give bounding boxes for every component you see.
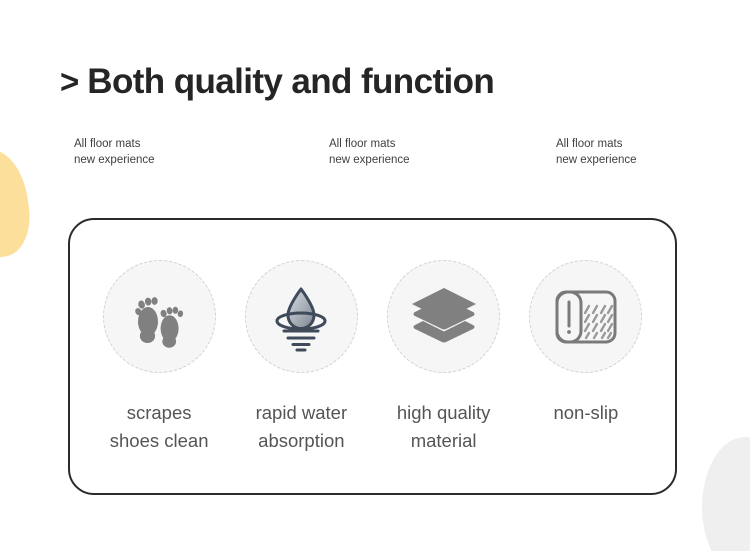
feature-label-line-1: scrapes: [110, 399, 209, 427]
feature-label-line-1: non-slip: [553, 399, 618, 427]
water-drop-ripple-icon: [265, 281, 337, 353]
feature-item-scrapes-shoes-clean[interactable]: scrapes shoes clean: [92, 260, 226, 455]
subtitle-line-2: new experience: [74, 152, 155, 168]
icon-circle: [529, 260, 642, 373]
page-root: > Both quality and function All floor ma…: [0, 0, 750, 551]
feature-list: scrapes shoes clean: [70, 220, 675, 493]
feature-label: high quality material: [397, 399, 491, 455]
feature-label: non-slip: [553, 399, 618, 427]
icon-circle: [245, 260, 358, 373]
subtitle-line-1: All floor mats: [556, 136, 637, 152]
subtitle-block-2: All floor mats new experience: [329, 136, 410, 168]
feature-item-rapid-water-absorption[interactable]: rapid water absorption: [234, 260, 368, 455]
feature-label-line-1: rapid water: [256, 399, 348, 427]
subtitle-block-3: All floor mats new experience: [556, 136, 637, 168]
footprints-icon: [124, 282, 194, 352]
decorative-yellow-blob: [0, 145, 35, 262]
feature-label-line-2: shoes clean: [110, 427, 209, 455]
page-title: > Both quality and function: [60, 64, 494, 99]
subtitle-line-1: All floor mats: [74, 136, 155, 152]
decorative-gray-blob: [702, 437, 750, 551]
feature-card: scrapes shoes clean: [68, 218, 677, 495]
feature-item-high-quality-material[interactable]: high quality material: [377, 260, 511, 455]
icon-circle: [103, 260, 216, 373]
feature-label-line-2: material: [397, 427, 491, 455]
subtitle-line-2: new experience: [329, 152, 410, 168]
rolled-mat-icon: [551, 286, 621, 348]
feature-label: scrapes shoes clean: [110, 399, 209, 455]
stacked-layers-icon: [408, 284, 480, 350]
subtitle-line-1: All floor mats: [329, 136, 410, 152]
subtitle-block-1: All floor mats new experience: [74, 136, 155, 168]
page-title-text: Both quality and function: [87, 64, 494, 99]
feature-label-line-1: high quality: [397, 399, 491, 427]
feature-label: rapid water absorption: [256, 399, 348, 455]
subtitle-line-2: new experience: [556, 152, 637, 168]
feature-item-non-slip[interactable]: non-slip: [519, 260, 653, 427]
feature-label-line-2: absorption: [256, 427, 348, 455]
icon-circle: [387, 260, 500, 373]
subtitle-row: All floor mats new experience All floor …: [74, 136, 674, 176]
chevron-right-icon: >: [60, 65, 78, 98]
